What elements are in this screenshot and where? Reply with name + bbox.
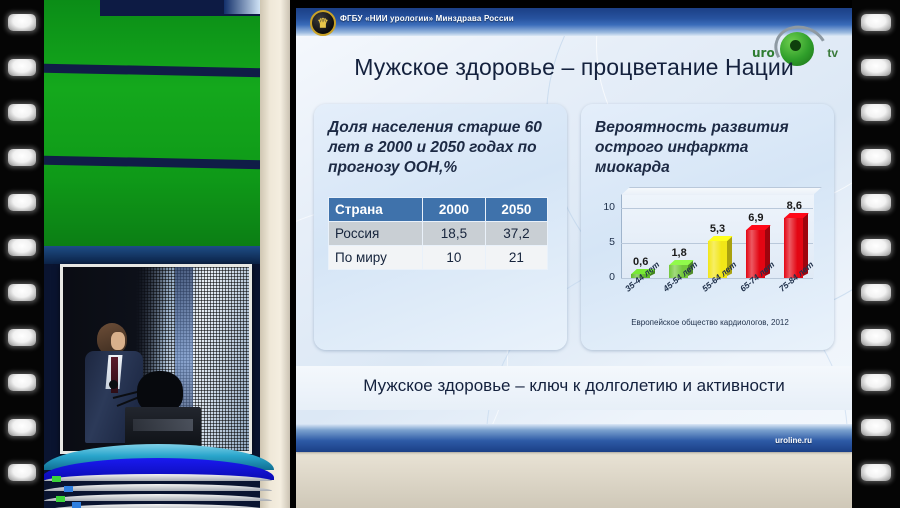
film-sprocket-icon <box>8 374 36 391</box>
speaker-face <box>111 332 125 350</box>
population-table: Страна 2000 2050 Россия 18,5 37,2 По мир… <box>328 197 548 270</box>
table-col-country: Страна <box>329 198 423 222</box>
film-sprocket-icon <box>861 419 891 436</box>
desk-accent <box>56 496 65 502</box>
chart-source-caption: Европейское общество кардиологов, 2012 <box>597 318 823 327</box>
desk-accent <box>72 502 81 508</box>
chart-y-tick-label: 5 <box>591 236 615 248</box>
chart-y-tick-label: 0 <box>591 271 615 283</box>
podium <box>125 407 201 449</box>
podium-plate <box>133 419 193 431</box>
filmstrip-right <box>852 0 900 508</box>
film-sprocket-icon <box>8 464 36 481</box>
film-sprocket-icon <box>861 329 891 346</box>
film-sprocket-icon <box>8 284 36 301</box>
cell-2050: 21 <box>485 246 548 270</box>
chart-top-panel-3d <box>621 187 822 195</box>
film-sprocket-icon <box>861 59 891 76</box>
panel-infarction-risk: Вероятность развития острого инфаркта ми… <box>581 104 834 350</box>
organization-header-text: ФГБУ «НИИ урологии» Минздрава России <box>340 14 514 23</box>
desk-accent <box>64 486 73 492</box>
speaker-inset-screen <box>60 264 252 454</box>
infarction-bar-chart: 0510 0,61,85,36,98,6 35-44 лет45-54 лет5… <box>591 190 823 340</box>
table-col-2000: 2000 <box>423 198 485 222</box>
film-sprocket-icon <box>8 104 36 121</box>
studio-pillar <box>260 0 290 508</box>
chart-bar-value-label: 6,9 <box>736 212 776 224</box>
panel-heading: Вероятность развития острого инфаркта ми… <box>595 118 822 177</box>
table-col-2050: 2050 <box>485 198 548 222</box>
studio-desk <box>44 444 288 508</box>
logo-dark-dot <box>790 40 801 51</box>
film-sprocket-icon <box>8 239 36 256</box>
chart-bar-value-label: 1,8 <box>659 247 699 259</box>
footer-website: uroline.ru <box>775 436 812 445</box>
studio-floor <box>44 246 262 264</box>
wall-stripe <box>44 64 270 78</box>
film-sprocket-icon <box>861 464 891 481</box>
film-sprocket-icon <box>8 59 36 76</box>
bottom-banner-text: Мужское здоровье – ключ к долголетию и а… <box>296 376 852 396</box>
wall-highlight <box>224 0 260 14</box>
panel-population-share: Доля населения старше 60 лет в 2000 и 20… <box>314 104 567 350</box>
studio-green-wall <box>44 0 260 252</box>
desk-rib <box>44 494 272 501</box>
film-sprocket-icon <box>8 329 36 346</box>
chart-bar-value-label: 8,6 <box>774 200 814 212</box>
desk-rib <box>44 474 272 481</box>
cell-2000: 18,5 <box>423 222 485 246</box>
film-sprocket-icon <box>861 374 891 391</box>
broadcast-video-left <box>44 0 290 508</box>
slide-edge-shadow <box>290 0 296 508</box>
chart-bar-value-label: 5,3 <box>698 223 738 235</box>
film-sprocket-icon <box>8 194 36 211</box>
film-sprocket-icon <box>8 419 36 436</box>
slide-panels: Доля населения старше 60 лет в 2000 и 20… <box>314 104 834 350</box>
studio-wall-lower <box>296 452 852 508</box>
kidney-emblem-icon: ♛ <box>310 10 336 36</box>
film-sprocket-icon <box>861 104 891 121</box>
cell-country: Россия <box>329 222 423 246</box>
table-row: Россия 18,5 37,2 <box>329 222 548 246</box>
table-row: По миру 10 21 <box>329 246 548 270</box>
filmstrip-left <box>0 0 44 508</box>
slide-bottom-banner: Мужское здоровье – ключ к долголетию и а… <box>296 366 852 410</box>
chart-y-tick-label: 10 <box>591 201 615 213</box>
cell-2000: 10 <box>423 246 485 270</box>
slide-footer-bar <box>296 424 852 452</box>
film-sprocket-icon <box>8 149 36 166</box>
desk-accent <box>52 476 61 482</box>
slide-title: Мужское здоровье – процветание Нации <box>296 54 852 81</box>
microphone-head-icon <box>109 380 118 389</box>
presentation-slide: ♛ ФГБУ «НИИ урологии» Минздрава России u… <box>296 8 852 452</box>
film-sprocket-icon <box>861 14 891 31</box>
film-sprocket-icon <box>861 284 891 301</box>
film-sprocket-icon <box>8 14 36 31</box>
video-frame: ♛ ФГБУ «НИИ урологии» Минздрава России u… <box>0 0 900 508</box>
cell-country: По миру <box>329 246 423 270</box>
cell-2050: 37,2 <box>485 222 548 246</box>
panel-heading: Доля населения старше 60 лет в 2000 и 20… <box>328 118 555 177</box>
film-sprocket-icon <box>861 194 891 211</box>
film-sprocket-icon <box>861 239 891 256</box>
table-header-row: Страна 2000 2050 <box>329 198 548 222</box>
wall-stripe <box>44 156 270 170</box>
emblem-glyph: ♛ <box>317 17 329 30</box>
desk-rib <box>44 484 272 491</box>
film-sprocket-icon <box>861 149 891 166</box>
